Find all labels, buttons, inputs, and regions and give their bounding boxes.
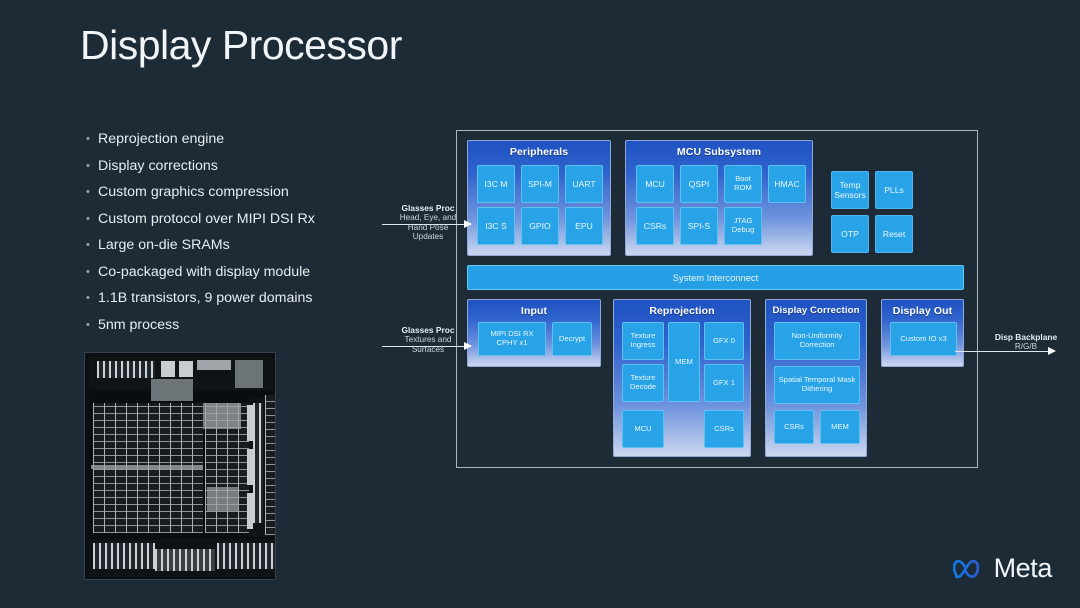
group-display-correction: Display Correction Non-Uniformity Correc…: [765, 299, 867, 457]
annotation-line-1: Glasses Proc: [382, 325, 474, 335]
meta-brand-logo: Meta: [953, 553, 1052, 584]
list-item-label: 5nm process: [98, 317, 179, 334]
group-title-peripherals: Peripherals: [468, 146, 610, 158]
group-mcu-subsystem: MCU Subsystem MCU QSPI Boot ROM HMAC CSR…: [625, 140, 813, 256]
block-dc-mem[interactable]: MEM: [820, 410, 860, 444]
arrow-line-textures-input: [382, 346, 467, 347]
page-title: Display Processor: [80, 22, 402, 69]
meta-infinity-logo-icon: [953, 557, 987, 581]
block-repro-csrs[interactable]: CSRs: [704, 410, 744, 448]
arrow-head-textures-input: [464, 342, 472, 350]
bullet-marker-icon: •: [84, 211, 98, 228]
group-reprojection: Reprojection Texture Ingress Texture Dec…: [613, 299, 751, 457]
arrow-line-pose-input: [382, 224, 467, 225]
group-peripherals: Peripherals I3C M SPI-M UART I3C S GPIO …: [467, 140, 611, 256]
block-system-interconnect[interactable]: System Interconnect: [467, 265, 964, 290]
block-otp[interactable]: OTP: [831, 215, 869, 253]
list-item-label: Reprojection engine: [98, 131, 224, 148]
block-mipi-dsi-rx[interactable]: MIPI DSI RX CPHY x1: [478, 322, 546, 356]
block-temp-sensors[interactable]: Temp Sensors: [831, 171, 869, 209]
group-title-reprojection: Reprojection: [614, 305, 750, 317]
list-item: • Custom graphics compression: [84, 184, 384, 201]
group-title-mcu-subsystem: MCU Subsystem: [626, 146, 812, 158]
bullet-marker-icon: •: [84, 264, 98, 281]
block-hmac[interactable]: HMAC: [768, 165, 806, 203]
block-decrypt[interactable]: Decrypt: [552, 322, 592, 356]
group-display-out: Display Out Custom IO x3: [881, 299, 964, 367]
list-item-label: Large on-die SRAMs: [98, 237, 230, 254]
list-item-label: Custom protocol over MIPI DSI Rx: [98, 211, 315, 228]
block-repro-mcu[interactable]: MCU: [622, 410, 664, 448]
list-item-label: Display corrections: [98, 158, 218, 175]
block-mcu[interactable]: MCU: [636, 165, 674, 203]
group-title-input: Input: [468, 305, 600, 317]
list-item: • Co-packaged with display module: [84, 264, 384, 281]
annotation-disp-backplane: Disp Backplane R/G/B: [978, 332, 1074, 352]
block-dc-csrs[interactable]: CSRs: [774, 410, 814, 444]
list-item: • Display corrections: [84, 158, 384, 175]
block-uart[interactable]: UART: [565, 165, 603, 203]
annotation-line-2: Textures and: [382, 335, 474, 345]
group-title-display-out: Display Out: [882, 305, 963, 317]
annotation-line-1: Disp Backplane: [978, 332, 1074, 342]
bullet-marker-icon: •: [84, 317, 98, 334]
block-jtag-debug[interactable]: JTAG Debug: [724, 207, 762, 245]
annotation-line-4: Updates: [382, 232, 474, 242]
silicon-die-photo: [84, 352, 276, 580]
block-qspi[interactable]: QSPI: [680, 165, 718, 203]
annotation-line-2: Head, Eye, and: [382, 213, 474, 223]
block-boot-rom[interactable]: Boot ROM: [724, 165, 762, 203]
block-epu[interactable]: EPU: [565, 207, 603, 245]
list-item-label: 1.1B transistors, 9 power domains: [98, 290, 313, 307]
list-item: • Custom protocol over MIPI DSI Rx: [84, 211, 384, 228]
list-item: • 5nm process: [84, 317, 384, 334]
list-item-label: Co-packaged with display module: [98, 264, 310, 281]
block-repro-mem[interactable]: MEM: [668, 322, 700, 402]
block-texture-ingress[interactable]: Texture Ingress: [622, 322, 664, 360]
block-non-uniformity-correction[interactable]: Non-Uniformity Correction: [774, 322, 860, 360]
slide-root: Display Processor • Reprojection engine …: [0, 0, 1080, 608]
block-gfx-0[interactable]: GFX 0: [704, 322, 744, 360]
bullet-marker-icon: •: [84, 131, 98, 148]
arrow-line-backplane-output: [955, 351, 1051, 352]
block-texture-decode[interactable]: Texture Decode: [622, 364, 664, 402]
arrow-head-pose-input: [464, 220, 472, 228]
annotation-glasses-proc-textures: Glasses Proc Textures and Surfaces: [382, 325, 474, 354]
block-i3c-s[interactable]: I3C S: [477, 207, 515, 245]
bullet-marker-icon: •: [84, 237, 98, 254]
block-gpio[interactable]: GPIO: [521, 207, 559, 245]
list-item: • Reprojection engine: [84, 131, 384, 148]
list-item: • 1.1B transistors, 9 power domains: [84, 290, 384, 307]
block-plls[interactable]: PLLs: [875, 171, 913, 209]
annotation-glasses-proc-pose: Glasses Proc Head, Eye, and Hand Pose Up…: [382, 203, 474, 242]
block-gfx-1[interactable]: GFX 1: [704, 364, 744, 402]
bullet-marker-icon: •: [84, 158, 98, 175]
list-item: • Large on-die SRAMs: [84, 237, 384, 254]
annotation-line-1: Glasses Proc: [382, 203, 474, 213]
block-spatial-temporal-dithering[interactable]: Spatial Temporal Mask Dithering: [774, 366, 860, 404]
block-custom-io[interactable]: Custom IO x3: [890, 322, 957, 356]
bullet-marker-icon: •: [84, 290, 98, 307]
list-item-label: Custom graphics compression: [98, 184, 289, 201]
block-i3c-m[interactable]: I3C M: [477, 165, 515, 203]
block-spi-s[interactable]: SPI-S: [680, 207, 718, 245]
bullet-marker-icon: •: [84, 184, 98, 201]
group-title-display-correction: Display Correction: [766, 305, 866, 316]
feature-bullet-list: • Reprojection engine • Display correcti…: [84, 131, 384, 343]
block-diagram: Peripherals I3C M SPI-M UART I3C S GPIO …: [456, 130, 978, 468]
block-reset[interactable]: Reset: [875, 215, 913, 253]
block-spi-m[interactable]: SPI-M: [521, 165, 559, 203]
meta-wordmark: Meta: [994, 553, 1052, 584]
arrow-head-backplane-output: [1048, 347, 1056, 355]
block-csrs[interactable]: CSRs: [636, 207, 674, 245]
group-input: Input MIPI DSI RX CPHY x1 Decrypt: [467, 299, 601, 367]
